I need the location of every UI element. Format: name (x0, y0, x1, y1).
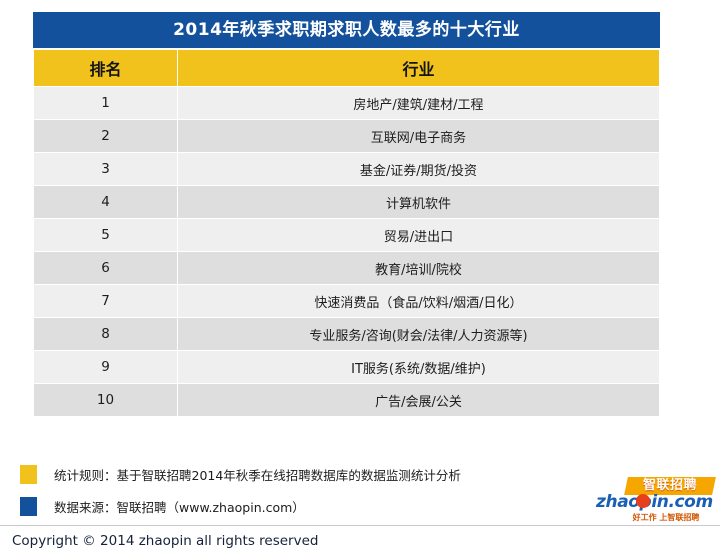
table-row: 2 互联网/电子商务 (34, 120, 659, 152)
blue-square-bullet-icon (20, 497, 37, 516)
cell-rank: 5 (34, 219, 177, 251)
cell-industry: 房地产/建筑/建材/工程 (178, 87, 659, 119)
cell-rank: 10 (34, 384, 177, 416)
cell-rank: 6 (34, 252, 177, 284)
copyright-text: Copyright © 2014 zhaopin all rights rese… (12, 533, 318, 549)
cell-industry: 快速消费品（食品/饮料/烟酒/日化） (178, 285, 659, 317)
footer-divider (0, 525, 720, 526)
table-row: 4 计算机软件 (34, 186, 659, 218)
footnote-text: 统计规则：基于智联招聘2014年秋季在线招聘数据库的数据监测统计分析 (54, 465, 461, 484)
ranking-table-container: 2014年秋季求职期求职人数最多的十大行业 排名 行业 1 房地产/建筑/建材/… (33, 12, 660, 417)
table-row: 3 基金/证券/期货/投资 (34, 153, 659, 185)
table-row: 8 专业服务/咨询(财会/法律/人力资源等) (34, 318, 659, 350)
cell-industry: 专业服务/咨询(财会/法律/人力资源等) (178, 318, 659, 350)
table-body: 1 房地产/建筑/建材/工程 2 互联网/电子商务 3 基金/证券/期货/投资 … (34, 87, 659, 416)
cell-industry: 基金/证券/期货/投资 (178, 153, 659, 185)
cell-rank: 7 (34, 285, 177, 317)
logo-dot-icon (636, 494, 650, 508)
table-row: 7 快速消费品（食品/饮料/烟酒/日化） (34, 285, 659, 317)
table-title: 2014年秋季求职期求职人数最多的十大行业 (33, 12, 660, 48)
cell-industry: 互联网/电子商务 (178, 120, 659, 152)
table-row: 6 教育/培训/院校 (34, 252, 659, 284)
cell-rank: 4 (34, 186, 177, 218)
logo-slogan: 好工作 上智联招聘 (618, 512, 714, 523)
column-header-industry: 行业 (178, 50, 659, 86)
table-row: 1 房地产/建筑/建材/工程 (34, 87, 659, 119)
cell-rank: 1 (34, 87, 177, 119)
footnote-text: 数据来源：智联招聘（www.zhaopin.com） (54, 497, 305, 516)
cell-rank: 2 (34, 120, 177, 152)
cell-industry: 广告/会展/公关 (178, 384, 659, 416)
zhaopin-logo: 智联招聘 zhaopin.com 好工作 上智联招聘 (596, 477, 714, 525)
cell-industry: 贸易/进出口 (178, 219, 659, 251)
table-row: 10 广告/会展/公关 (34, 384, 659, 416)
cell-rank: 3 (34, 153, 177, 185)
table-row: 9 IT服务(系统/数据/维护) (34, 351, 659, 383)
cell-industry: 计算机软件 (178, 186, 659, 218)
cell-industry: 教育/培训/院校 (178, 252, 659, 284)
yellow-square-bullet-icon (20, 465, 37, 484)
cell-industry: IT服务(系统/数据/维护) (178, 351, 659, 383)
table-row: 5 贸易/进出口 (34, 219, 659, 251)
table-header-row: 排名 行业 (34, 50, 659, 86)
ranking-table: 排名 行业 1 房地产/建筑/建材/工程 2 互联网/电子商务 3 基金/证券/… (33, 49, 660, 417)
logo-domain-text: zhaopin.com (596, 492, 714, 512)
column-header-rank: 排名 (34, 50, 177, 86)
cell-rank: 9 (34, 351, 177, 383)
cell-rank: 8 (34, 318, 177, 350)
